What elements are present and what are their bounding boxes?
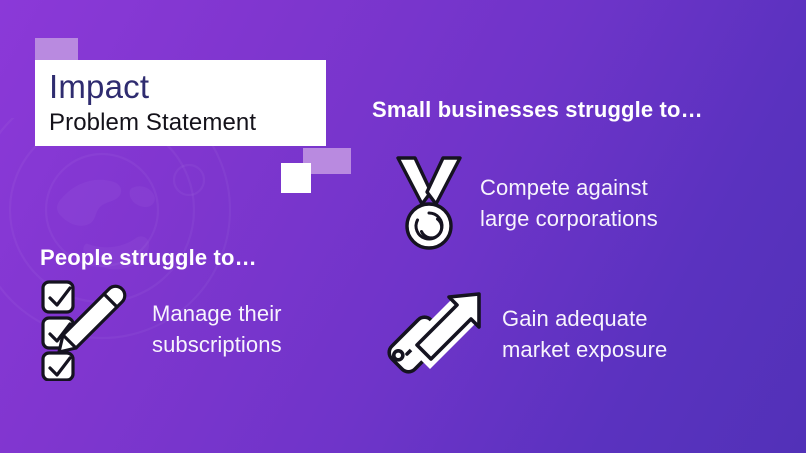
feature-line-2: subscriptions bbox=[152, 329, 282, 360]
page-title: Impact bbox=[49, 66, 326, 107]
white-square-bottom-right bbox=[281, 163, 311, 193]
feature-gain-adequate-market-exposure: Gain adequate market exposure bbox=[378, 288, 667, 380]
slide-canvas: Impact Problem Statement Small businesse… bbox=[0, 0, 806, 453]
feature-text-compete: Compete against large corporations bbox=[480, 172, 658, 234]
feature-line-1: Compete against bbox=[480, 172, 658, 203]
title-card: Impact Problem Statement bbox=[35, 60, 326, 146]
page-subtitle: Problem Statement bbox=[49, 107, 326, 139]
feature-line-1: Gain adequate bbox=[502, 303, 667, 334]
feature-text-manage: Manage their subscriptions bbox=[152, 298, 282, 360]
feature-line-2: market exposure bbox=[502, 334, 667, 365]
growth-arrow-icon bbox=[378, 288, 484, 380]
feature-manage-their-subscriptions: Manage their subscriptions bbox=[38, 277, 282, 381]
lilac-square-top-left bbox=[35, 38, 78, 62]
heading-small-businesses: Small businesses struggle to… bbox=[372, 97, 703, 123]
feature-line-2: large corporations bbox=[480, 203, 658, 234]
feature-text-gain: Gain adequate market exposure bbox=[502, 303, 667, 365]
feature-line-1: Manage their bbox=[152, 298, 282, 329]
checklist-pen-icon bbox=[38, 277, 142, 381]
heading-people: People struggle to… bbox=[40, 245, 257, 271]
medal-icon bbox=[392, 152, 466, 254]
feature-compete-against-large-corporations: Compete against large corporations bbox=[392, 152, 658, 254]
